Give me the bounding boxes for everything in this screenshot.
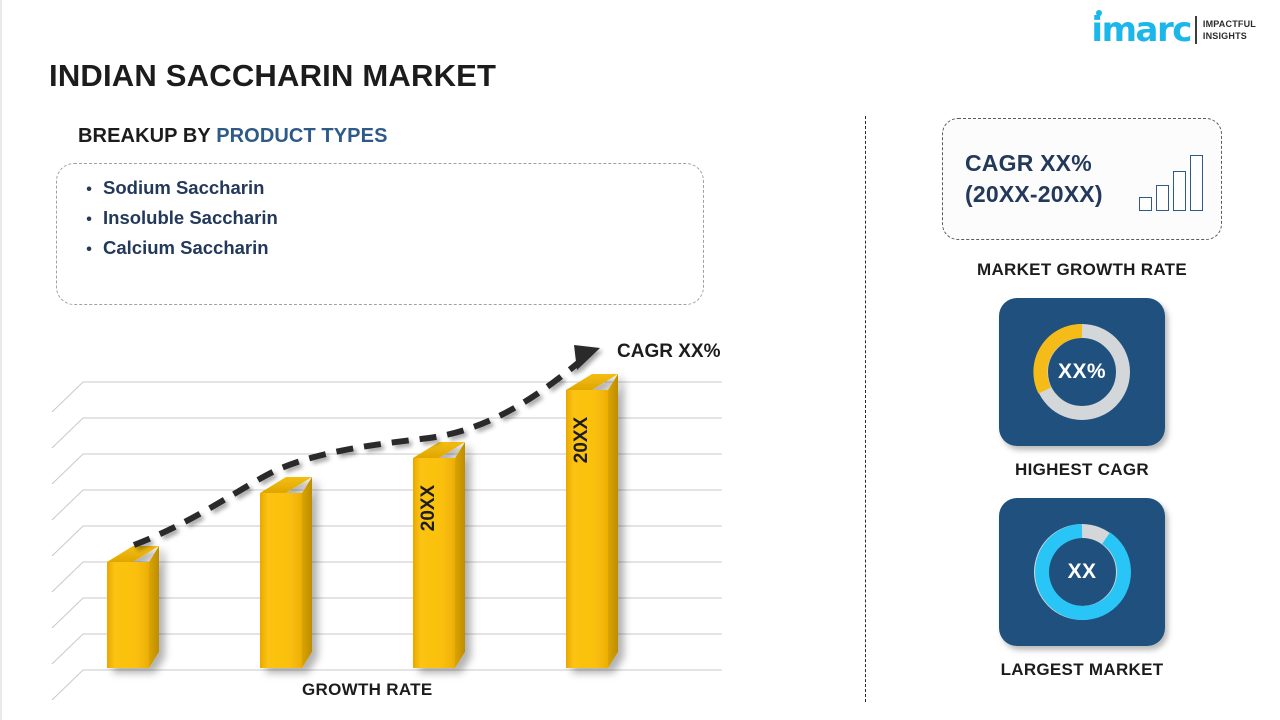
stats-column: CAGR XX% (20XX-20XX) MARKET GROWTH RATE … (902, 118, 1262, 680)
cagr-trend-line (134, 345, 600, 545)
highest-cagr-caption: HIGHEST CAGR (902, 460, 1262, 480)
bar-3 (413, 442, 465, 668)
largest-market-caption: LARGEST MARKET (902, 660, 1262, 680)
logo-divider (1195, 16, 1197, 44)
bar-chart-icon (1139, 155, 1203, 211)
bar-label-3: 20XX (418, 484, 439, 531)
infographic-page: imarc IMPACTFUL INSIGHTS INDIAN SACCHARI… (0, 0, 1280, 720)
chart-trend-label: CAGR XX% (617, 341, 720, 363)
list-item-label: Calcium Saccharin (103, 237, 269, 259)
subtitle-prefix: BREAKUP BY (78, 125, 211, 147)
bullet-icon: • (75, 212, 103, 228)
logo-wordmark-text: imarc (1091, 10, 1190, 50)
bar-2 (260, 477, 312, 668)
chart-x-axis-label: GROWTH RATE (302, 680, 432, 700)
chart-canvas: 20XX 20XX (49, 330, 749, 720)
list-item: • Sodium Saccharin (75, 177, 703, 199)
page-subtitle: BREAKUP BY PRODUCT TYPES (78, 125, 388, 148)
bullet-icon: • (75, 242, 103, 258)
highest-cagr-card: XX% (999, 298, 1165, 446)
largest-market-card: XX (999, 498, 1165, 646)
page-title: INDIAN SACCHARIN MARKET (49, 58, 496, 94)
bullet-icon: • (75, 182, 103, 198)
list-item-label: Sodium Saccharin (103, 177, 264, 199)
growth-rate-chart: 20XX 20XX (49, 330, 749, 720)
subtitle-accent: PRODUCT TYPES (216, 125, 387, 147)
list-item: • Insoluble Saccharin (75, 207, 703, 229)
cagr-text: CAGR XX% (20XX-20XX) (965, 148, 1103, 210)
highest-cagr-value: XX% (999, 360, 1165, 384)
list-item-label: Insoluble Saccharin (103, 207, 278, 229)
logo-tagline: IMPACTFUL INSIGHTS (1203, 18, 1256, 42)
trend-arrowhead (574, 345, 600, 370)
largest-market-value: XX (999, 560, 1165, 584)
list-item: • Calcium Saccharin (75, 237, 703, 259)
bar-1 (107, 546, 159, 668)
cagr-period: (20XX-20XX) (965, 179, 1103, 210)
bar-label-4: 20XX (571, 416, 592, 463)
section-divider (865, 116, 866, 702)
logo-tagline-line2: INSIGHTS (1203, 30, 1256, 42)
market-growth-rate-caption: MARKET GROWTH RATE (902, 260, 1262, 280)
product-types-box: • Sodium Saccharin • Insoluble Saccharin… (56, 163, 704, 305)
imarc-logo: imarc IMPACTFUL INSIGHTS (1091, 12, 1256, 48)
cagr-value: CAGR XX% (965, 148, 1103, 179)
market-growth-rate-box: CAGR XX% (20XX-20XX) (942, 118, 1222, 240)
logo-tagline-line1: IMPACTFUL (1203, 18, 1256, 30)
logo-wordmark: imarc (1091, 13, 1190, 47)
